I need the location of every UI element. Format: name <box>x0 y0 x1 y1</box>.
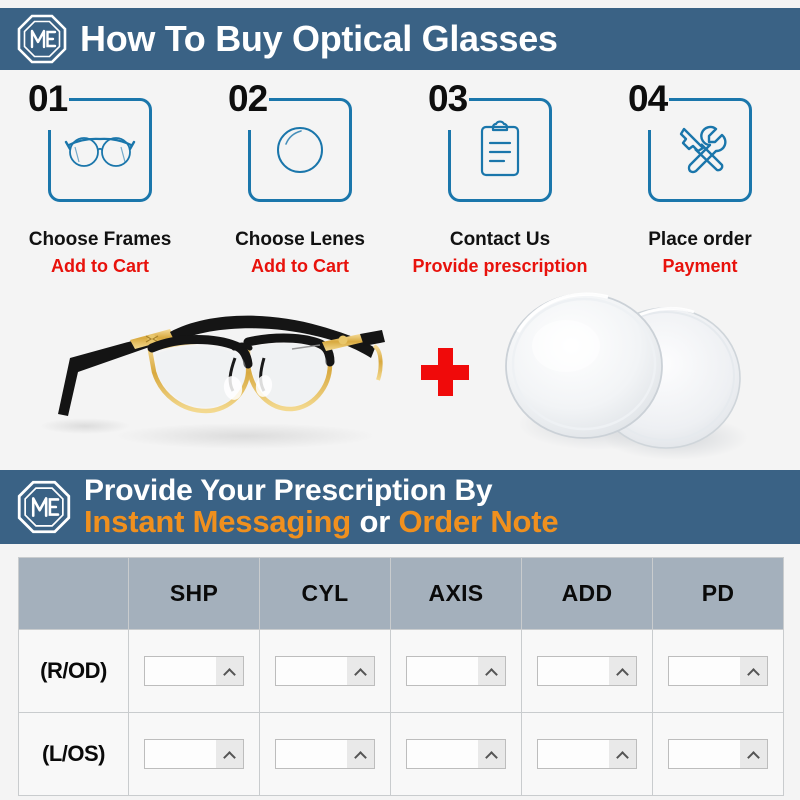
prescription-banner: Provide Your Prescription By Instant Mes… <box>0 470 800 544</box>
step-choose-lenses: 02 Choose Lenes Add to Cart <box>200 78 400 288</box>
chevron-up-icon[interactable] <box>478 740 505 768</box>
cell-left-cyl <box>260 713 391 796</box>
instant-messaging-text: Instant Messaging <box>84 504 351 539</box>
order-note-text: Order Note <box>398 504 558 539</box>
chevron-up-icon[interactable] <box>347 657 374 685</box>
input-left-add-value <box>538 740 609 768</box>
step-choose-frames: 01 Choose Frames Add to Cart <box>0 78 200 288</box>
step-3-icon-box: 03 <box>448 98 552 202</box>
step-place-order: 04 Place order Payment <box>600 78 800 288</box>
step-2-icon-box: 02 <box>248 98 352 202</box>
input-left-pd-value <box>669 740 740 768</box>
cell-left-pd <box>653 713 784 796</box>
prescription-banner-line2: Instant Messaging or Order Note <box>84 506 558 538</box>
cell-right-cyl <box>260 630 391 713</box>
table-row: (R/OD) <box>19 630 784 713</box>
step-title: Place order <box>600 228 800 252</box>
cell-right-pd <box>653 630 784 713</box>
input-right-pd-value <box>669 657 740 685</box>
input-left-cyl-value <box>276 740 347 768</box>
step-contact-us: 03 Contact Us Provide prescription <box>400 78 600 288</box>
joiner-text: or <box>351 504 398 539</box>
cell-left-add <box>522 713 653 796</box>
input-right-pd[interactable] <box>668 656 768 686</box>
input-right-add[interactable] <box>537 656 637 686</box>
product-showcase-row <box>0 288 800 466</box>
row-label-right-eye: (R/OD) <box>19 630 129 713</box>
row-label-left-eye: (L/OS) <box>19 713 129 796</box>
chevron-up-icon[interactable] <box>609 740 636 768</box>
step-1-labels: Choose Frames Add to Cart <box>0 228 200 278</box>
cell-right-axis <box>391 630 522 713</box>
input-left-cyl[interactable] <box>275 739 375 769</box>
prescription-banner-line1: Provide Your Prescription By <box>84 476 558 507</box>
step-3-labels: Contact Us Provide prescription <box>400 228 600 278</box>
chevron-up-icon[interactable] <box>347 740 374 768</box>
step-subtitle: Add to Cart <box>200 255 400 278</box>
column-header-axis: AXIS <box>391 558 522 630</box>
step-number: 04 <box>626 80 669 117</box>
step-title: Choose Lenes <box>200 228 400 252</box>
cell-right-add <box>522 630 653 713</box>
chevron-up-icon[interactable] <box>740 740 767 768</box>
cell-right-shp <box>129 630 260 713</box>
step-subtitle: Provide prescription <box>400 255 600 278</box>
column-header-add: ADD <box>522 558 653 630</box>
input-left-add[interactable] <box>537 739 637 769</box>
step-number: 03 <box>426 80 469 117</box>
input-left-pd[interactable] <box>668 739 768 769</box>
page-title: How To Buy Optical Glasses <box>80 21 558 57</box>
plus-vertical-bar <box>438 348 453 396</box>
step-1-icon-box: 01 <box>48 98 152 202</box>
input-right-cyl-value <box>276 657 347 685</box>
step-4-icon-box: 04 <box>648 98 752 202</box>
cell-left-axis <box>391 713 522 796</box>
step-title: Contact Us <box>400 228 600 252</box>
input-right-shp-value <box>145 657 216 685</box>
page-title-banner: How To Buy Optical Glasses <box>0 8 800 70</box>
column-header-pd: PD <box>653 558 784 630</box>
column-header-shp: SHP <box>129 558 260 630</box>
chevron-up-icon[interactable] <box>216 657 243 685</box>
table-row: (L/OS) <box>19 713 784 796</box>
prescription-table: SHP CYL AXIS ADD PD (R/OD) <box>18 557 784 796</box>
column-header-cyl: CYL <box>260 558 391 630</box>
step-2-labels: Choose Lenes Add to Cart <box>200 228 400 278</box>
chevron-up-icon[interactable] <box>478 657 505 685</box>
chevron-up-icon[interactable] <box>216 740 243 768</box>
input-left-axis-value <box>407 740 478 768</box>
step-title: Choose Frames <box>0 228 200 252</box>
input-left-shp-value <box>145 740 216 768</box>
input-right-shp[interactable] <box>144 656 244 686</box>
input-right-axis-value <box>407 657 478 685</box>
step-number: 01 <box>26 80 69 117</box>
input-right-axis[interactable] <box>406 656 506 686</box>
eyeglasses-frame-photo <box>30 296 420 461</box>
input-right-cyl[interactable] <box>275 656 375 686</box>
prescription-banner-text: Provide Your Prescription By Instant Mes… <box>84 476 558 538</box>
input-left-shp[interactable] <box>144 739 244 769</box>
plus-icon <box>421 348 469 396</box>
step-number: 02 <box>226 80 269 117</box>
cell-left-shp <box>129 713 260 796</box>
step-subtitle: Payment <box>600 255 800 278</box>
step-4-labels: Place order Payment <box>600 228 800 278</box>
optical-lenses-photo <box>480 288 780 466</box>
chevron-up-icon[interactable] <box>740 657 767 685</box>
how-to-buy-steps: 01 Choose Frames Add to Cart <box>0 78 800 288</box>
input-left-axis[interactable] <box>406 739 506 769</box>
table-header-row: SHP CYL AXIS ADD PD <box>19 558 784 630</box>
step-subtitle: Add to Cart <box>0 255 200 278</box>
me-monogram-logo <box>16 479 72 535</box>
chevron-up-icon[interactable] <box>609 657 636 685</box>
table-corner-cell <box>19 558 129 630</box>
input-right-add-value <box>538 657 609 685</box>
me-monogram-logo <box>16 13 68 65</box>
